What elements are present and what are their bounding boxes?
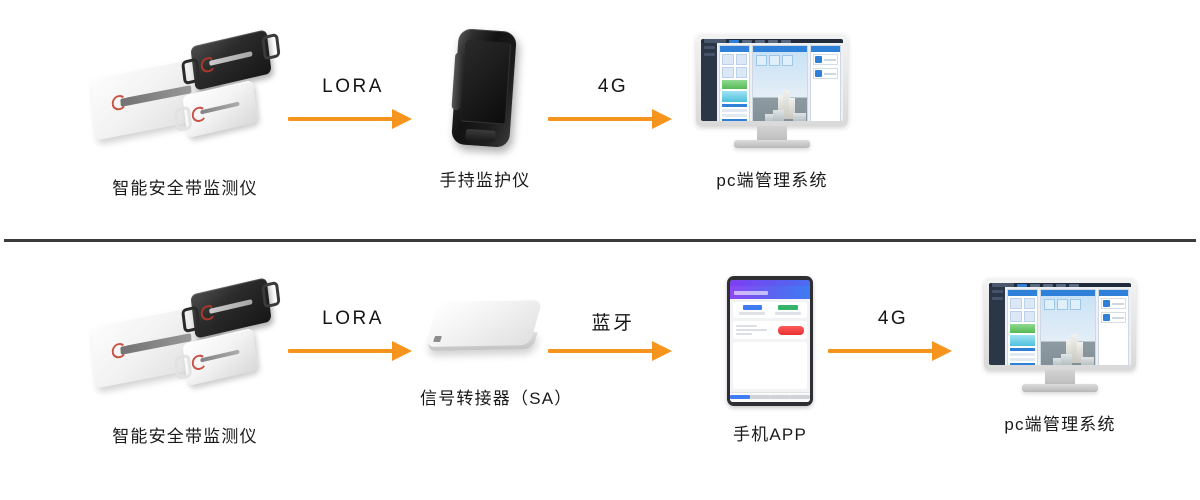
monitor-stand-base-icon (1022, 384, 1098, 392)
dashboard-panel-left (1007, 289, 1038, 365)
arrow-bluetooth: 蓝牙 (548, 308, 678, 358)
alert-list-item (813, 54, 838, 65)
monitor-screen (989, 283, 1131, 365)
arrow-4g-1: 4G (548, 76, 678, 126)
dashboard-preview (701, 39, 843, 121)
arrow-lora-1: LORA (288, 76, 418, 126)
phone-tab-icon (730, 395, 750, 399)
sensor-logo-icon (120, 85, 191, 107)
node-label-converter: 信号转接器（SA） (420, 384, 540, 409)
node-label-pc-2: pc端管理系统 (980, 410, 1140, 435)
sensor-ear-right-icon (261, 33, 281, 61)
phone-stat-alarm (772, 305, 805, 315)
phone-screen (730, 280, 810, 402)
dashboard-panel-3d-view (1040, 289, 1095, 365)
sensor-logo-icon (209, 52, 252, 66)
pc-monitor-art (696, 34, 848, 154)
handheld-screen-icon (460, 40, 512, 125)
sensor-ear-left-icon (181, 305, 201, 333)
dashboard-panel-left (719, 45, 750, 121)
sensor-logo-icon (200, 101, 240, 115)
sensor-box-black-icon (190, 277, 271, 338)
pc-monitor-art (984, 278, 1136, 398)
sensor-ear-left-icon (174, 354, 192, 381)
node-handheld[interactable]: 手持监护仪 (405, 30, 565, 191)
sensor-ear-right-icon (261, 281, 281, 309)
node-label-sensors-1: 智能安全带监测仪 (60, 174, 310, 199)
arrow-label-bluetooth: 蓝牙 (548, 308, 678, 335)
plant-3d-scene-icon (753, 52, 806, 121)
sensor-logo-icon (209, 300, 252, 314)
arrow-shaft (548, 349, 660, 353)
node-pc-2[interactable]: pc端管理系统 (980, 278, 1140, 435)
handheld-keypad-icon (465, 129, 496, 142)
phone-app-header (730, 286, 810, 299)
arrow-label-lora-2: LORA (288, 308, 418, 330)
arrow-shaft (828, 349, 940, 353)
monitor-bezel-icon (984, 278, 1136, 370)
sensor-group-art (60, 32, 310, 152)
arrow-head-icon (392, 341, 412, 361)
dashboard-main (717, 43, 843, 121)
flow-row-bottom: 智能安全带监测仪 LORA 信号转接器（SA） 蓝牙 (0, 244, 1200, 500)
sensor-group-art (60, 280, 310, 400)
monitor-bezel-icon (696, 34, 848, 126)
handheld-body-icon (451, 28, 517, 148)
alert-list-item (1101, 298, 1126, 309)
phone-list-item (733, 321, 807, 339)
monitor-stand-base-icon (734, 140, 810, 148)
dashboard-panel-alerts (810, 45, 841, 121)
arrow-shaft (288, 117, 400, 121)
arrow-label-4g-1: 4G (548, 76, 678, 98)
phone-content-area (733, 342, 807, 389)
section-divider (4, 239, 1196, 242)
node-label-phone: 手机APP (700, 420, 840, 445)
dashboard-main (1005, 287, 1131, 365)
flow-row-top: 智能安全带监测仪 LORA 手持监护仪 4G (0, 0, 1200, 240)
node-label-sensors-2: 智能安全带监测仪 (60, 422, 310, 447)
handheld-terminal-art (445, 30, 525, 148)
arrow-shaft (288, 349, 400, 353)
arrow-head-icon (652, 341, 672, 361)
monitor-screen (701, 39, 843, 121)
arrow-label-lora-1: LORA (288, 76, 418, 98)
node-converter[interactable]: 信号转接器（SA） (420, 286, 540, 409)
sensor-logo-icon (200, 349, 240, 363)
sensor-ear-left-icon (181, 57, 201, 85)
mobile-phone-art (727, 276, 813, 406)
converter-box-art (420, 286, 550, 372)
dashboard-sidebar (701, 43, 717, 121)
dashboard-body (989, 287, 1131, 365)
phone-body-icon (727, 276, 813, 406)
converter-lid-icon (425, 299, 543, 347)
phone-stats-card (733, 302, 807, 318)
arrow-head-icon (652, 109, 672, 129)
node-sensors-1[interactable]: 智能安全带监测仪 (60, 32, 310, 199)
phone-tab-bar (730, 392, 810, 402)
dashboard-body (701, 43, 843, 121)
phone-tab-icon (790, 395, 810, 399)
dashboard-preview (989, 283, 1131, 365)
arrow-shaft (548, 117, 660, 121)
node-sensors-2[interactable]: 智能安全带监测仪 (60, 280, 310, 447)
phone-alarm-badge (778, 326, 804, 335)
dashboard-sidebar (989, 287, 1005, 365)
node-pc-1[interactable]: pc端管理系统 (692, 34, 852, 191)
node-label-pc-1: pc端管理系统 (692, 166, 852, 191)
phone-tab-icon (770, 395, 790, 399)
node-label-handheld: 手持监护仪 (405, 166, 565, 191)
sensor-box-black-icon (190, 29, 271, 90)
phone-stat-online (736, 305, 769, 315)
arrow-4g-2: 4G (828, 308, 958, 358)
sensor-ear-left-icon (174, 106, 192, 133)
sensor-logo-icon (120, 333, 191, 355)
node-phone[interactable]: 手机APP (700, 276, 840, 445)
dashboard-panel-3d-view (752, 45, 807, 121)
alert-list-item (813, 68, 838, 79)
arrow-lora-2: LORA (288, 308, 418, 358)
dashboard-panel-alerts (1098, 289, 1129, 365)
arrow-head-icon (932, 341, 952, 361)
phone-tab-icon (750, 395, 770, 399)
arrow-label-4g-2: 4G (828, 308, 958, 330)
alert-list-item (1101, 312, 1126, 323)
plant-3d-scene-icon (1041, 296, 1094, 365)
